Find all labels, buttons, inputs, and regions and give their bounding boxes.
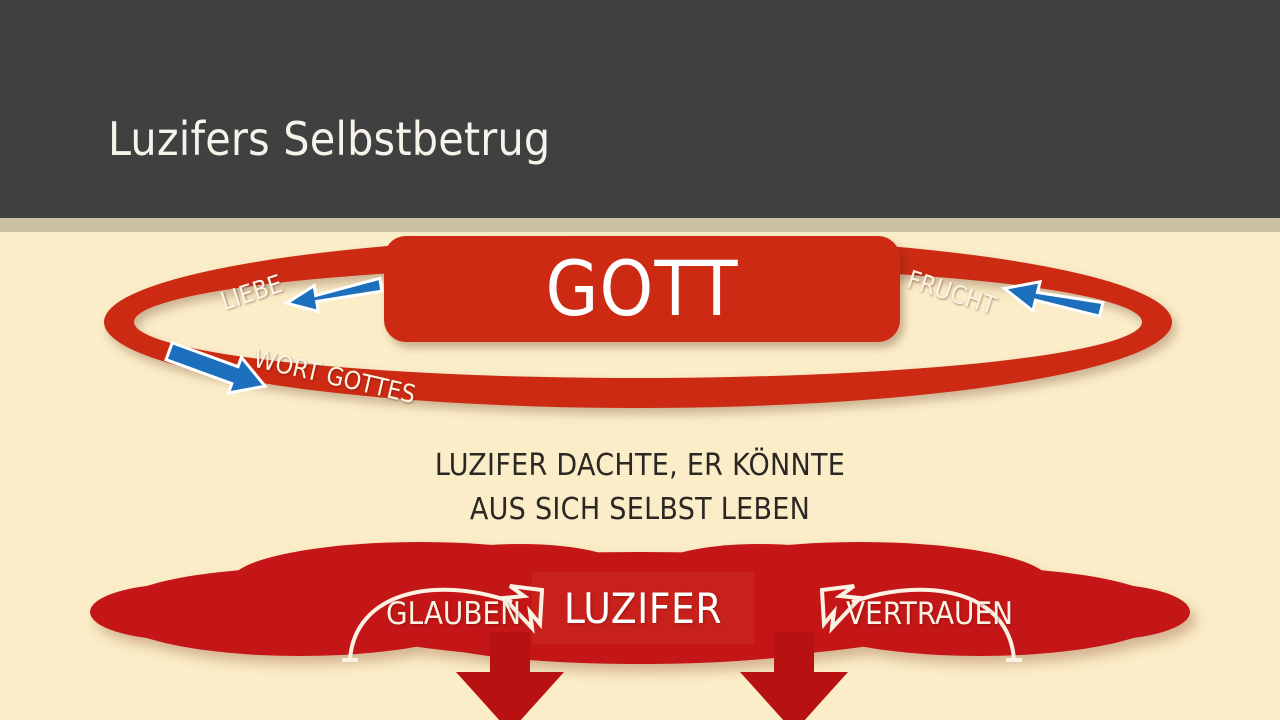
gott-node: GOTT [384, 236, 900, 342]
blob-label-vertrauen: VERTRAUEN [846, 596, 1013, 632]
blue-arrow-left-icon [994, 274, 1108, 326]
page-title: Luzifers Selbstbetrug [108, 112, 550, 166]
header-divider [0, 218, 1280, 232]
god-cycle-diagram: GOTT LIEBE WORT GOTTES FRUCHT [104, 236, 1176, 416]
blue-arrow-left-icon [278, 272, 386, 320]
gott-node-label: GOTT [546, 251, 739, 327]
caption-line-1: LUZIFER DACHTE, ER KÖNNTE [0, 444, 1280, 488]
blob-label-glauben: GLAUBEN [386, 596, 521, 632]
slide-header-band [0, 0, 1280, 218]
luzifer-node-label: LUZIFER [564, 584, 722, 633]
luzifer-cloud-diagram: LUZIFER GLAUBEN VERTRAUEN [0, 520, 1280, 720]
slide: Luzifers Selbstbetrug GOTT LIEBE WORT GO… [0, 0, 1280, 720]
